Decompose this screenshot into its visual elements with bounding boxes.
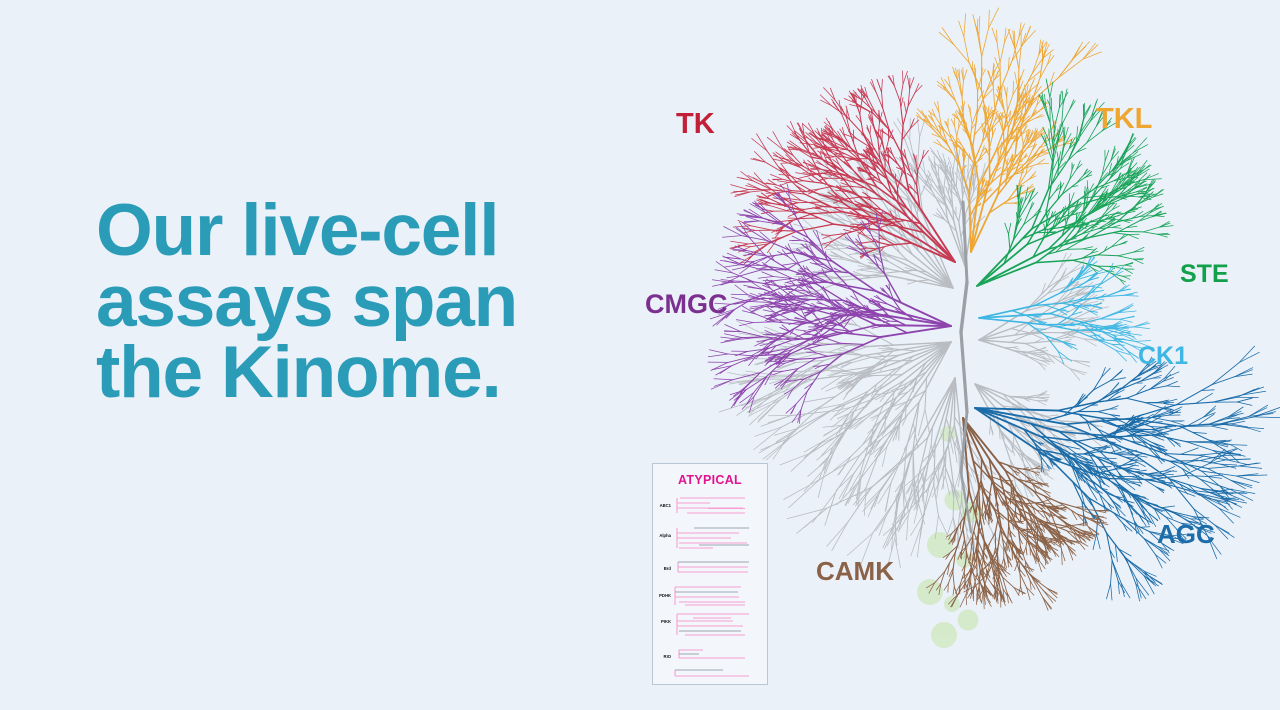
atypical-inset-panel: ATYPICAL ABC1AlphaBrdPDHKPIKKRIO [652,463,768,685]
group-label-camk: CAMK [816,556,894,587]
group-label-tk: TK [676,108,715,141]
group-label-ste: STE [1180,260,1229,289]
headline-line-3: the Kinome. [96,338,616,409]
atypical-family-label: Brd [664,566,672,571]
banner-canvas: Our live-cell assays span the Kinome. TK… [0,0,1280,710]
branches-tkl [916,8,1101,252]
group-label-ck1: CK1 [1138,342,1188,371]
group-label-cmgc: CMGC [645,289,728,320]
group-label-tkl: TKL [1096,103,1152,136]
atypical-branches-grey [675,528,749,670]
atypical-family-label: PDHK [659,593,671,598]
atypical-family-label: Alpha [659,533,671,538]
headline-line-1: Our live-cell [96,196,616,267]
atypical-dendrogram: ABC1AlphaBrdPDHKPIKKRIO [653,490,769,684]
atypical-family-label: ABC1 [660,503,672,508]
atypical-title: ATYPICAL [653,473,767,487]
atypical-branches-pink [675,498,749,676]
group-label-agc: AGC [1157,519,1215,550]
headline-line-2: assays span [96,267,616,338]
atypical-family-label: PIKK [661,619,671,624]
page-title: Our live-cell assays span the Kinome. [96,196,616,408]
atypical-family-labels: ABC1AlphaBrdPDHKPIKKRIO [659,503,672,659]
atypical-family-label: RIO [664,654,672,659]
